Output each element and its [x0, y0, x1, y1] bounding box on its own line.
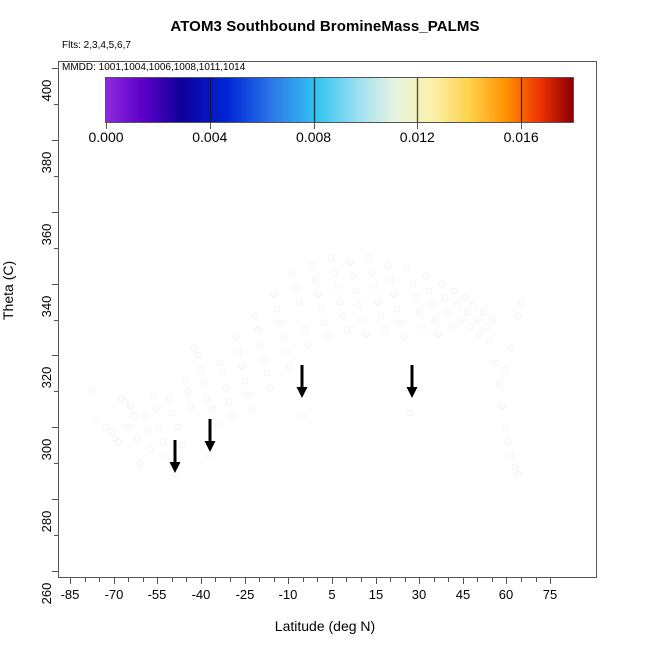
sample-marker	[115, 438, 122, 445]
sample-marker	[200, 381, 207, 388]
sample-marker	[283, 348, 290, 355]
sample-marker	[286, 363, 293, 370]
sample-marker	[400, 334, 407, 341]
x-tick-label: -70	[105, 587, 124, 602]
sample-marker	[93, 417, 100, 424]
sample-marker	[242, 377, 249, 384]
sample-marker	[334, 284, 341, 291]
x-tick	[419, 578, 420, 584]
x-tick-minor	[477, 578, 478, 582]
annotation-arrow	[204, 419, 217, 458]
y-tick-label: 320	[39, 363, 54, 393]
y-tick	[52, 499, 58, 500]
y-tick-minor	[54, 248, 58, 249]
sample-marker	[514, 470, 521, 477]
sample-marker	[425, 287, 432, 294]
sample-marker	[391, 291, 398, 298]
y-tick-label: 400	[39, 76, 54, 106]
sample-marker	[505, 438, 512, 445]
x-tick-minor	[434, 578, 435, 582]
y-tick-label: 340	[39, 292, 54, 322]
sample-marker	[362, 330, 369, 337]
sample-marker	[245, 391, 252, 398]
sample-marker	[276, 320, 283, 327]
sample-marker	[267, 384, 274, 391]
x-tick-minor	[361, 578, 362, 582]
colorbar-gradient	[105, 77, 574, 123]
sample-marker	[508, 452, 515, 459]
y-tick	[52, 140, 58, 141]
sample-marker	[422, 273, 429, 280]
x-tick-label: 30	[412, 587, 426, 602]
x-tick	[288, 578, 289, 584]
sample-marker	[229, 413, 236, 420]
sample-marker	[508, 345, 515, 352]
x-tick-label: -10	[279, 587, 298, 602]
sample-marker	[153, 406, 160, 413]
x-tick-minor	[230, 578, 231, 582]
sample-marker	[416, 309, 423, 316]
x-tick-minor	[186, 578, 187, 582]
x-tick-minor	[492, 578, 493, 582]
sample-marker	[378, 312, 385, 319]
sample-marker	[321, 320, 328, 327]
sample-marker	[134, 434, 141, 441]
x-tick-label: -55	[148, 587, 167, 602]
x-tick-label: 75	[543, 587, 557, 602]
x-tick	[70, 578, 71, 584]
sample-marker	[146, 445, 153, 452]
y-tick	[52, 355, 58, 356]
sample-marker	[156, 424, 163, 431]
y-tick	[52, 284, 58, 285]
sample-marker	[124, 424, 131, 431]
x-tick-minor	[85, 578, 86, 582]
sample-marker	[467, 323, 474, 330]
sample-marker	[318, 305, 325, 312]
annotation-arrow	[405, 365, 418, 404]
sample-marker	[451, 287, 458, 294]
y-axis-title: Theta (C)	[0, 261, 16, 320]
sample-marker	[311, 277, 318, 284]
sample-marker	[365, 255, 372, 262]
sample-marker	[438, 280, 445, 287]
x-tick-minor	[346, 578, 347, 582]
sample-marker	[498, 402, 505, 409]
sample-marker	[444, 309, 451, 316]
x-tick-label: -40	[192, 587, 211, 602]
sample-marker	[489, 316, 496, 323]
x-tick-minor	[303, 578, 304, 582]
sample-marker	[473, 316, 480, 323]
sample-marker	[464, 309, 471, 316]
sample-marker	[502, 424, 509, 431]
y-tick-minor	[54, 320, 58, 321]
sample-marker	[349, 273, 356, 280]
sample-marker	[264, 370, 271, 377]
sample-marker	[210, 406, 217, 413]
y-tick-minor	[54, 535, 58, 536]
x-tick-minor	[172, 578, 173, 582]
sample-marker	[457, 316, 464, 323]
sample-marker	[324, 334, 331, 341]
sample-marker	[346, 259, 353, 266]
x-tick	[550, 578, 551, 584]
sample-marker	[280, 334, 287, 341]
sample-marker	[375, 298, 382, 305]
x-tick	[332, 578, 333, 584]
x-tick	[506, 578, 507, 584]
sample-marker	[410, 280, 417, 287]
sample-marker	[470, 302, 477, 309]
sample-marker	[435, 330, 442, 337]
y-tick-label: 280	[39, 507, 54, 537]
x-tick-minor	[128, 578, 129, 582]
x-tick	[201, 578, 202, 584]
sample-marker	[191, 345, 198, 352]
sample-marker	[261, 355, 268, 362]
sample-marker	[372, 284, 379, 291]
sample-marker	[226, 399, 233, 406]
x-tick-minor	[405, 578, 406, 582]
y-tick	[52, 427, 58, 428]
sample-marker	[216, 359, 223, 366]
y-tick-minor	[54, 104, 58, 105]
sample-marker	[492, 359, 499, 366]
sample-marker	[495, 381, 502, 388]
flights-annotation: Flts: 2,3,4,5,6,7	[62, 40, 131, 51]
sample-marker	[188, 402, 195, 409]
y-tick-minor	[54, 176, 58, 177]
sample-marker	[175, 424, 182, 431]
sample-marker	[292, 284, 299, 291]
sample-marker	[394, 305, 401, 312]
sample-marker	[248, 406, 255, 413]
y-tick	[52, 571, 58, 572]
sample-marker	[184, 388, 191, 395]
sample-marker	[194, 352, 201, 359]
sample-marker	[387, 277, 394, 284]
sample-marker	[254, 327, 261, 334]
y-tick-label: 380	[39, 148, 54, 178]
x-tick-label: -25	[236, 587, 255, 602]
x-tick-minor	[259, 578, 260, 582]
y-tick-label: 300	[39, 435, 54, 465]
y-tick	[52, 212, 58, 213]
y-tick-label: 260	[39, 579, 54, 609]
x-tick-minor	[274, 578, 275, 582]
plot-canvas: ATOM3 Southbound BromineMass_PALMS Flts:…	[0, 0, 650, 650]
sample-marker	[223, 384, 230, 391]
sample-marker	[353, 287, 360, 294]
sample-marker	[295, 298, 302, 305]
x-tick-minor	[143, 578, 144, 582]
colorbar-tick-label: 0.000	[88, 129, 123, 145]
x-tick-minor	[317, 578, 318, 582]
sample-marker	[232, 334, 239, 341]
mmdd-annotation: MMDD: 1001,1004,1006,1008,1011,1014	[62, 62, 245, 73]
sample-marker	[384, 262, 391, 269]
sample-marker	[432, 316, 439, 323]
x-tick-label: -85	[61, 587, 80, 602]
annotation-arrow	[296, 365, 309, 404]
sample-marker	[403, 266, 410, 273]
sample-marker	[150, 391, 157, 398]
page-title: ATOM3 Southbound BromineMass_PALMS	[0, 18, 650, 35]
colorbar[interactable]	[105, 77, 574, 123]
x-tick-label: 60	[499, 587, 513, 602]
sample-marker	[429, 302, 436, 309]
x-tick	[114, 578, 115, 584]
sample-marker	[308, 262, 315, 269]
sample-marker	[514, 312, 521, 319]
sample-marker	[302, 327, 309, 334]
y-tick-minor	[54, 463, 58, 464]
sample-marker	[159, 438, 166, 445]
sample-marker	[406, 409, 413, 416]
x-tick-label: 45	[456, 587, 470, 602]
x-tick	[376, 578, 377, 584]
annotation-arrow	[169, 440, 182, 479]
sample-marker	[219, 370, 226, 377]
sample-marker	[419, 323, 426, 330]
sample-marker	[517, 298, 524, 305]
sample-marker	[273, 305, 280, 312]
sample-marker	[454, 302, 461, 309]
sample-marker	[108, 427, 115, 434]
sample-marker	[314, 291, 321, 298]
y-tick-minor	[54, 391, 58, 392]
x-tick-minor	[448, 578, 449, 582]
x-tick	[245, 578, 246, 584]
sample-marker	[137, 460, 144, 467]
sample-marker	[460, 294, 467, 301]
sample-marker	[127, 402, 134, 409]
sample-marker	[381, 327, 388, 334]
sample-marker	[356, 302, 363, 309]
sample-marker	[368, 269, 375, 276]
sample-marker	[238, 363, 245, 370]
x-tick-minor	[536, 578, 537, 582]
colorbar-tick-label: 0.004	[192, 129, 227, 145]
sample-marker	[299, 413, 306, 420]
sample-marker	[251, 312, 258, 319]
sample-marker	[359, 316, 366, 323]
sample-marker	[140, 413, 147, 420]
x-tick-minor	[215, 578, 216, 582]
colorbar-tick-label: 0.016	[504, 129, 539, 145]
sample-marker	[479, 309, 486, 316]
colorbar-tick-label: 0.008	[296, 129, 331, 145]
sample-marker	[143, 427, 150, 434]
sample-marker	[235, 348, 242, 355]
sample-marker	[337, 298, 344, 305]
x-tick	[157, 578, 158, 584]
sample-marker	[197, 366, 204, 373]
sample-marker	[89, 388, 96, 395]
sample-marker	[270, 291, 277, 298]
y-tick-label: 360	[39, 220, 54, 250]
sample-marker	[343, 327, 350, 334]
x-tick-label: 15	[369, 587, 383, 602]
sample-marker	[476, 330, 483, 337]
x-tick	[463, 578, 464, 584]
sample-marker	[131, 413, 138, 420]
sample-marker	[448, 323, 455, 330]
sample-marker	[181, 377, 188, 384]
x-axis-title: Latitude (deg N)	[0, 618, 650, 634]
sample-marker	[441, 294, 448, 301]
sample-marker	[305, 341, 312, 348]
sample-marker	[483, 323, 490, 330]
sample-marker	[340, 312, 347, 319]
sample-marker	[511, 463, 518, 470]
sample-marker	[289, 269, 296, 276]
sample-marker	[327, 255, 334, 262]
x-tick-minor	[390, 578, 391, 582]
sample-marker	[330, 269, 337, 276]
sample-marker	[204, 395, 211, 402]
sample-marker	[397, 320, 404, 327]
sample-marker	[413, 294, 420, 301]
sample-marker	[169, 409, 176, 416]
sample-marker	[486, 338, 493, 345]
sample-marker	[257, 341, 264, 348]
x-tick-label: 5	[328, 587, 335, 602]
y-tick	[52, 68, 58, 69]
sample-marker	[165, 395, 172, 402]
x-tick-minor	[99, 578, 100, 582]
colorbar-tick-label: 0.012	[400, 129, 435, 145]
sample-marker	[502, 366, 509, 373]
x-tick-minor	[521, 578, 522, 582]
